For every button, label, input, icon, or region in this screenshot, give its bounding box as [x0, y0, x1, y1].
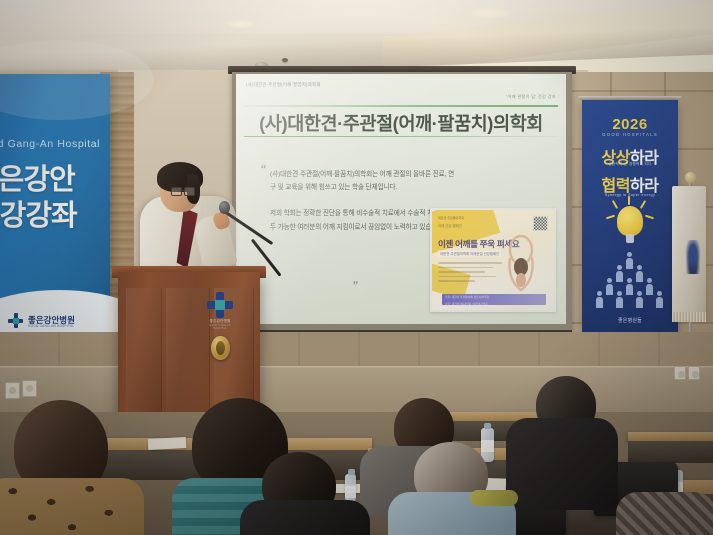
wall-outlet	[688, 366, 700, 380]
flag-emblem	[684, 240, 702, 274]
gold-emblem-icon	[211, 336, 230, 360]
quote-close-mark: ”	[351, 280, 359, 292]
hospital-logo-subtext: GOOD GANG-AN HOSPITAL	[28, 324, 74, 328]
slide-title: (사)대한견·주관절(어깨·팔꿈치)의학회	[236, 110, 566, 136]
banner-left-korean-2: 건강강좌	[0, 192, 77, 234]
attendee-scarf	[470, 490, 518, 506]
lightbulb-icon	[617, 206, 643, 236]
shoulder-illustration	[504, 234, 538, 294]
water-bottle	[481, 428, 494, 462]
podium-hospital-logo: 좋은강안병원 GOOD GANG-AN HOSPITAL	[204, 292, 236, 326]
banner-left: Good Gang-An Hospital 좋은강안 건강강좌 좋은강안병원 G…	[0, 74, 110, 340]
poster-footer-bar: 주최 : 대한견·주관절(어깨·팔꿈치)의학회 후원 : 대한정형외과학회 / …	[442, 294, 546, 305]
microphone-icon	[219, 201, 230, 214]
poster-tag-top: 대한견·주관절의학회	[438, 216, 464, 220]
banner-right-year-sub: GOOD HOSPITALS	[582, 132, 678, 137]
ceiling-downlight	[228, 20, 254, 28]
banner-right-year: 2026	[582, 116, 678, 133]
qr-code-icon	[533, 216, 548, 231]
lecture-hall-scene: Good Gang-An Hospital 좋은강안 건강강좌 좋은강안병원 G…	[0, 0, 713, 535]
people-pyramid-illustration	[593, 252, 667, 310]
eyeglasses-icon	[171, 187, 193, 194]
ceiling-sensor-icon	[282, 58, 288, 62]
quote-open-mark: “	[259, 162, 268, 176]
flag-finial	[685, 172, 696, 183]
slide-header-right: '어깨 관절이 답' 건강 강좌	[506, 94, 556, 100]
wall-outlet	[674, 366, 686, 380]
poster-footer-line-1: 주최 : 대한견·주관절(어깨·팔꿈치)의학회	[442, 294, 546, 301]
podium-logo-subtext: GOOD GANG-AN HOSPITAL	[204, 324, 236, 330]
banner-right-logo-text: 좋은병원들	[582, 317, 678, 324]
handout-paper	[148, 437, 187, 450]
banner-left-english: Good Gang-An Hospital	[0, 138, 100, 150]
wall-outlet	[5, 382, 20, 399]
projection-screen: (사)대한견·주관절(어깨·팔꿈치)의학회 '어깨 관절이 답' 건강 강좌 (…	[236, 74, 566, 324]
wall-outlet	[22, 380, 37, 397]
poster-subline: 대한견·주관절의학회 어깨관절 건강캠페인	[438, 250, 501, 257]
hospital-logo: 좋은강안병원 GOOD GANG-AN HOSPITAL	[0, 310, 102, 332]
slide-divider-bottom	[244, 136, 558, 137]
audience-desk-front	[628, 441, 713, 463]
cross-icon	[207, 292, 233, 318]
poster-tag-sub: 어깨 건강 캠페인	[438, 223, 462, 228]
banner-right-slogan-1-sub: 상상력이 곧 경쟁력이 되다	[582, 162, 678, 167]
poster-body-lines	[438, 262, 502, 285]
slide-paragraph-1: (사)대한견·주관절(어깨·팔꿈치)의학회는 어깨 관절의 올바른 진료, 연구…	[270, 168, 460, 194]
water-bottle	[345, 474, 356, 502]
cross-icon	[8, 313, 23, 328]
banner-right: 2026 GOOD HOSPITALS 상상하라 상상력이 곧 경쟁력이 되다 …	[582, 100, 678, 332]
campaign-poster: 대한견·주관절의학회 어깨 건강 캠페인 이젠 어깨를 쭈욱 펴세요 대한견·주…	[430, 208, 556, 312]
ceiling-downlight	[470, 8, 510, 18]
flag-fringe	[672, 312, 706, 322]
poster-footer-line-2: 후원 : 대한정형외과학회 / 대한의사협회	[442, 301, 546, 308]
banner-right-slogan-2-sub: Synergy is Super energy	[582, 192, 678, 197]
slide-divider-top	[244, 105, 558, 107]
slide-header-left: (사)대한견·주관절(어깨·팔꿈치)의학회	[246, 82, 321, 88]
